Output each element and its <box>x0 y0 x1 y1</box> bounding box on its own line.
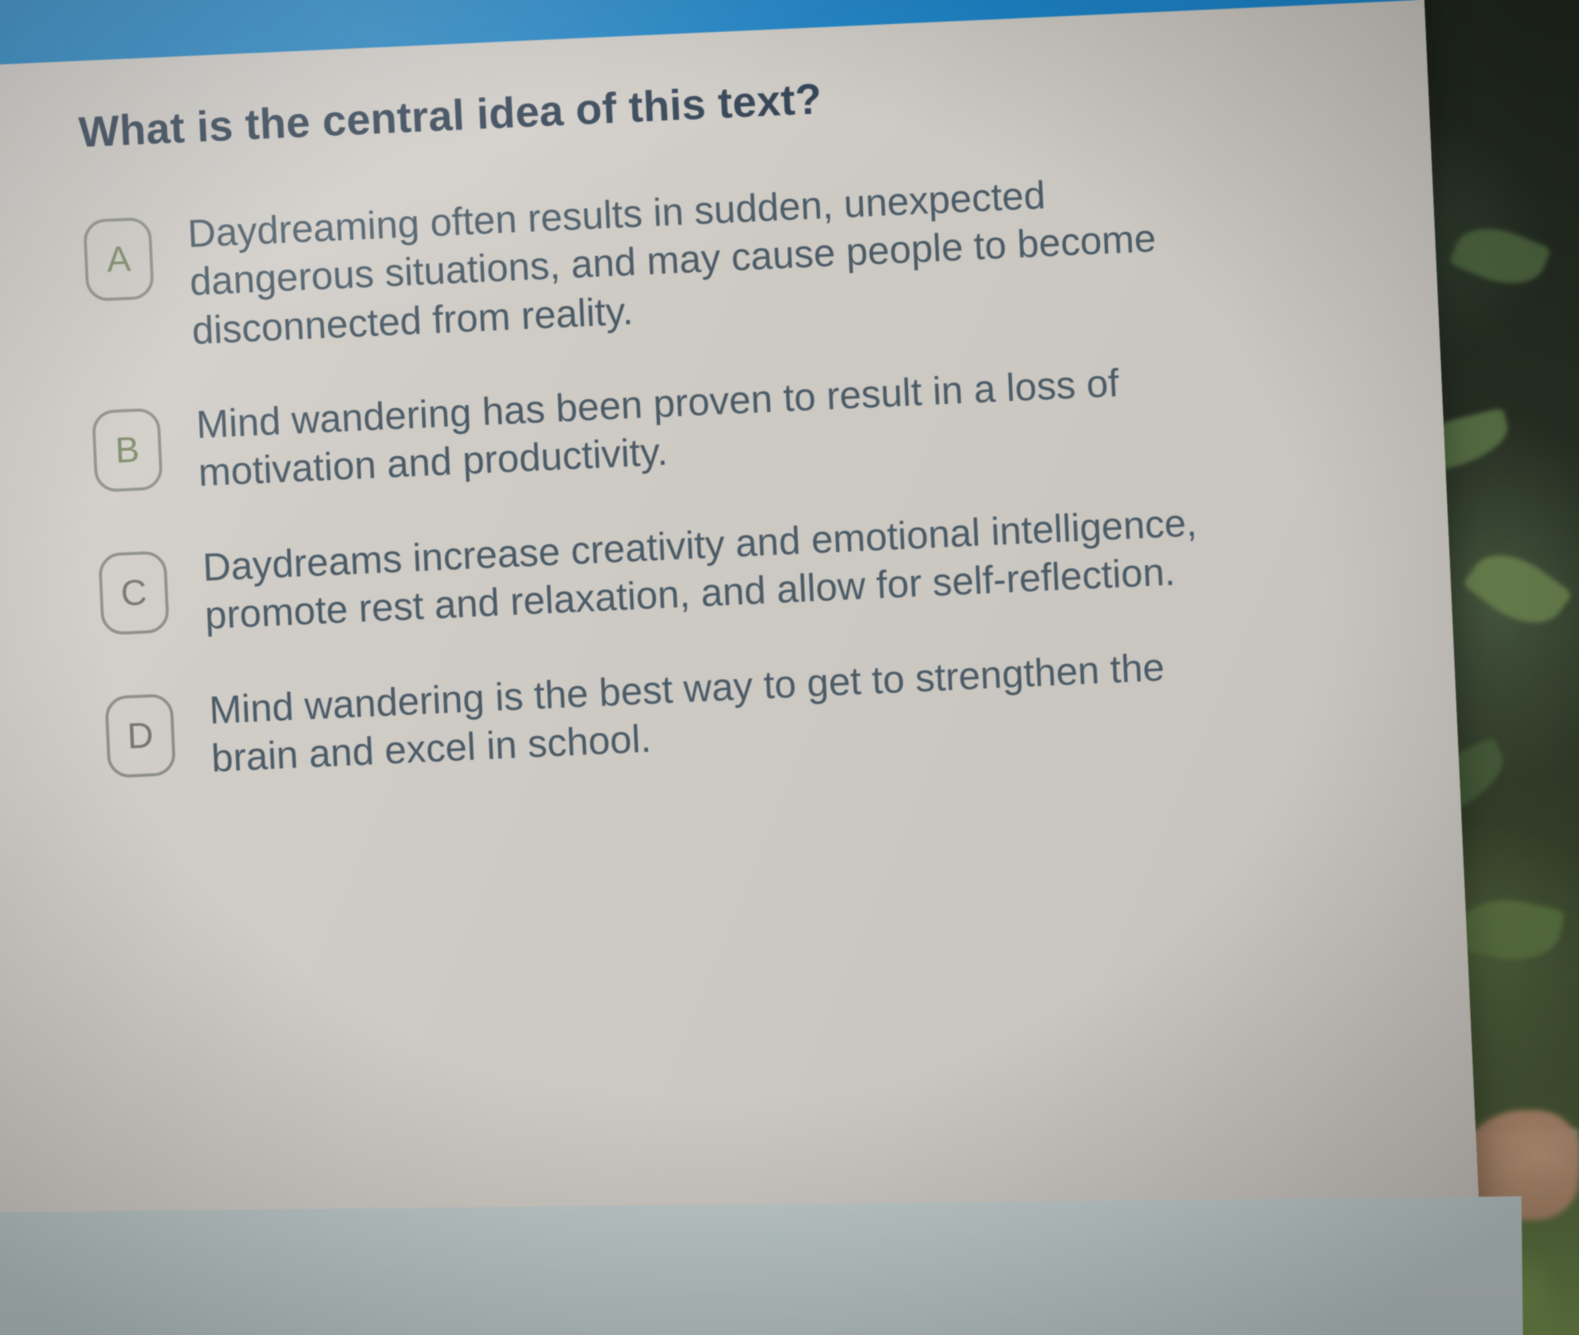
option-text-c: Daydreams increase creativity and emotio… <box>202 499 1215 641</box>
option-text-a: Daydreaming often results in sudden, une… <box>187 165 1203 356</box>
option-letter-badge-c[interactable]: C <box>98 550 170 635</box>
answer-option-d[interactable]: D Mind wandering is the best way to get … <box>104 636 1337 788</box>
answer-options-list: A Daydreaming often results in sudden, u… <box>83 160 1338 788</box>
photo-of-screen: ...mit button. What is the central idea … <box>0 0 1579 1335</box>
device-screen: ...mit button. What is the central idea … <box>0 0 1483 1335</box>
screen-surface: ...mit button. What is the central idea … <box>0 0 1483 1335</box>
answer-option-b[interactable]: B Mind wandering has been proven to resu… <box>91 351 1324 503</box>
answer-option-a[interactable]: A Daydreaming often results in sudden, u… <box>83 160 1318 361</box>
device-bezel <box>0 1196 1523 1335</box>
option-text-b: Mind wandering has been proven to result… <box>195 356 1208 498</box>
option-text-d: Mind wandering is the best way to get to… <box>208 641 1221 783</box>
answer-option-c[interactable]: C Daydreams increase creativity and emot… <box>98 494 1331 646</box>
question-card: What is the central idea of this text? A… <box>0 0 1483 1335</box>
option-letter-badge-d[interactable]: D <box>104 693 176 778</box>
option-letter-badge-a[interactable]: A <box>83 217 155 302</box>
option-letter-badge-b[interactable]: B <box>92 408 164 493</box>
question-prompt: What is the central idea of this text? <box>78 53 1309 158</box>
